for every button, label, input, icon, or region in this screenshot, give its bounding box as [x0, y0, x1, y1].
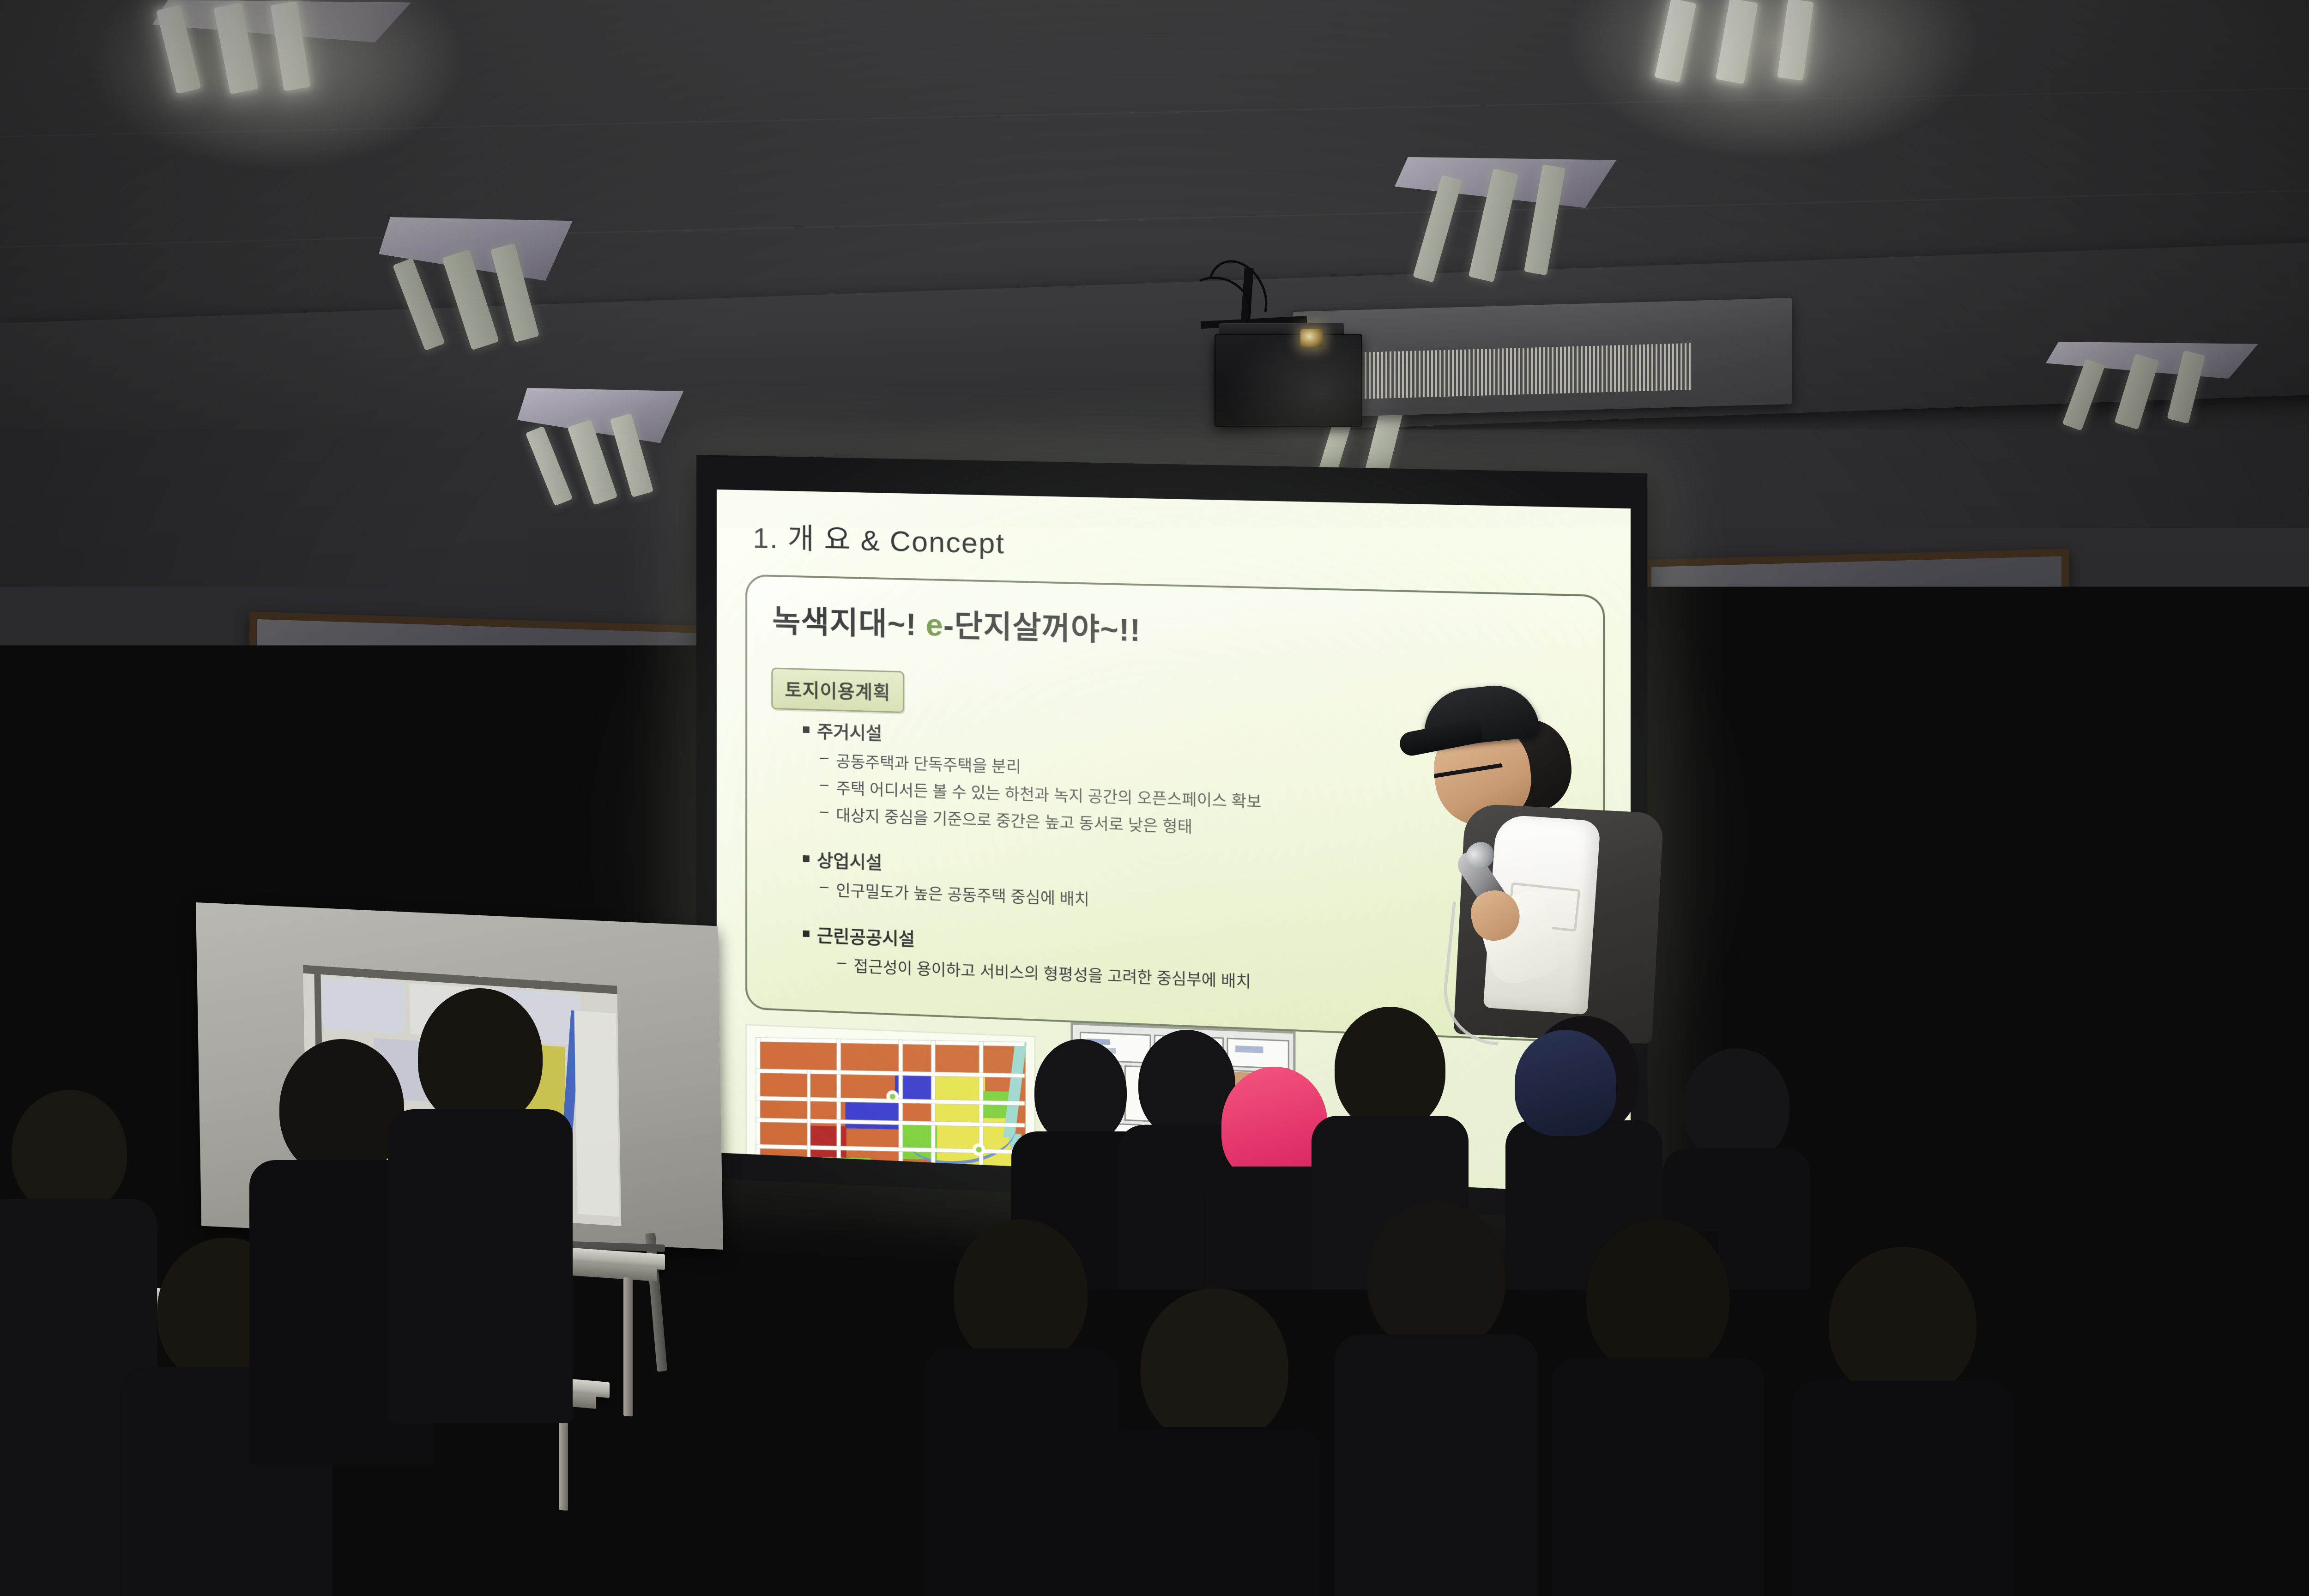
dash-bullet-icon: – [820, 748, 828, 767]
person-head [2016, 660, 2099, 757]
person-body [2249, 744, 2309, 952]
person-head [1367, 1201, 1505, 1353]
bullet-item-label: 공동주택과 단독주택을 분리 [836, 749, 1021, 777]
bullet-heading-label: 주거시설 [817, 717, 882, 745]
person-body [2120, 760, 2267, 963]
square-bullet-icon [803, 855, 810, 862]
person-body [2032, 1353, 2263, 1596]
air-conditioning-vent [1293, 298, 1792, 418]
slide-headline: 녹색지대~! e-단지살꺼야~!! [772, 596, 1141, 650]
ceiling-light-fixture-3 [517, 388, 683, 508]
standing-attendee [1981, 660, 2134, 947]
person-head [2152, 679, 2235, 771]
roundabout-icon [886, 1090, 899, 1103]
fluorescent-tube [1777, 0, 1813, 81]
audience-member [2240, 1053, 2309, 1596]
person-head [1335, 1007, 1445, 1131]
projector-lens [1300, 329, 1323, 347]
slide-title: 1. 개 요 & Concept [753, 514, 1005, 562]
audience-member [1108, 1288, 1321, 1596]
roundabout-icon [973, 1143, 985, 1156]
ceiling-light-fixture-2 [379, 217, 573, 356]
pink-hood [2277, 1053, 2309, 1164]
person-head [12, 1090, 127, 1215]
person-head [1586, 1219, 1729, 1376]
dash-bullet-icon: – [820, 775, 828, 793]
land-use-plan-tag: 토지이용계획 [771, 667, 904, 713]
fluorescent-tube [2062, 359, 2105, 431]
bullet-heading-label: 상업시설 [817, 846, 882, 874]
person-body [517, 1289, 711, 1596]
person-head [1034, 1039, 1127, 1145]
dash-bullet-icon: – [820, 877, 828, 895]
person-head [954, 1219, 1088, 1367]
land-use-map [745, 1024, 1035, 1195]
presenter [1390, 687, 1686, 1038]
fluorescent-tube [1413, 175, 1463, 283]
person-body [1552, 1358, 1764, 1596]
headline-prefix: 녹색지대~! [772, 604, 925, 642]
dash-bullet-icon: – [820, 802, 828, 821]
dash-bullet-icon: – [837, 953, 846, 972]
fluorescent-tube [1654, 0, 1696, 83]
vent-grill [1323, 343, 1692, 400]
person-body [2240, 1150, 2309, 1596]
projector [1215, 334, 1362, 427]
person-head [2279, 660, 2309, 756]
square-bullet-icon [803, 930, 810, 937]
person-head [279, 1039, 404, 1178]
standing-attendee [2249, 660, 2309, 947]
person-head [1829, 1247, 1977, 1399]
person-body [1792, 1381, 2013, 1596]
person-body [1108, 1427, 1321, 1596]
person-head [1683, 1048, 1789, 1164]
square-bullet-icon [803, 726, 810, 732]
headline-accent: e [926, 607, 943, 642]
headline-suffix: -단지살꺼야~!! [943, 608, 1141, 647]
navy-cap [1515, 1030, 1616, 1136]
fluorescent-tube [526, 426, 573, 506]
person-head [1831, 1030, 1946, 1155]
ceiling-light-fixture-6 [1644, 0, 1930, 88]
audience-member [517, 1164, 711, 1596]
person-head [550, 1164, 679, 1307]
bullet-item-label: 인구밀도가 높은 공동주택 중심에 배치 [836, 878, 1089, 910]
person-head [2071, 1210, 2224, 1372]
audience-member [1552, 1219, 1764, 1596]
audience-member [2032, 1210, 2263, 1596]
person-head [418, 988, 543, 1127]
person-body [1981, 744, 2134, 951]
photo-scene: 1. 개 요 & Concept 녹색지대~! e-단지살꺼야~!! 토지이용계… [0, 0, 2309, 1596]
person-body [1335, 1335, 1538, 1596]
person-head [1141, 1288, 1288, 1445]
ceiling-light-fixture-1 [152, 0, 411, 92]
fluorescent-tube [393, 258, 445, 351]
audience-member [1792, 1247, 2013, 1596]
fluorescent-tube [1716, 0, 1758, 84]
standing-attendee [2120, 679, 2267, 956]
audience-member [1335, 1201, 1538, 1596]
ceiling-light-fixture-4 [1395, 157, 1616, 291]
audience-member [924, 1219, 1118, 1596]
person-body [924, 1348, 1118, 1596]
ceiling-light-fixture-7 [2046, 342, 2258, 434]
bullet-heading-label: 근린공공시설 [817, 921, 915, 950]
